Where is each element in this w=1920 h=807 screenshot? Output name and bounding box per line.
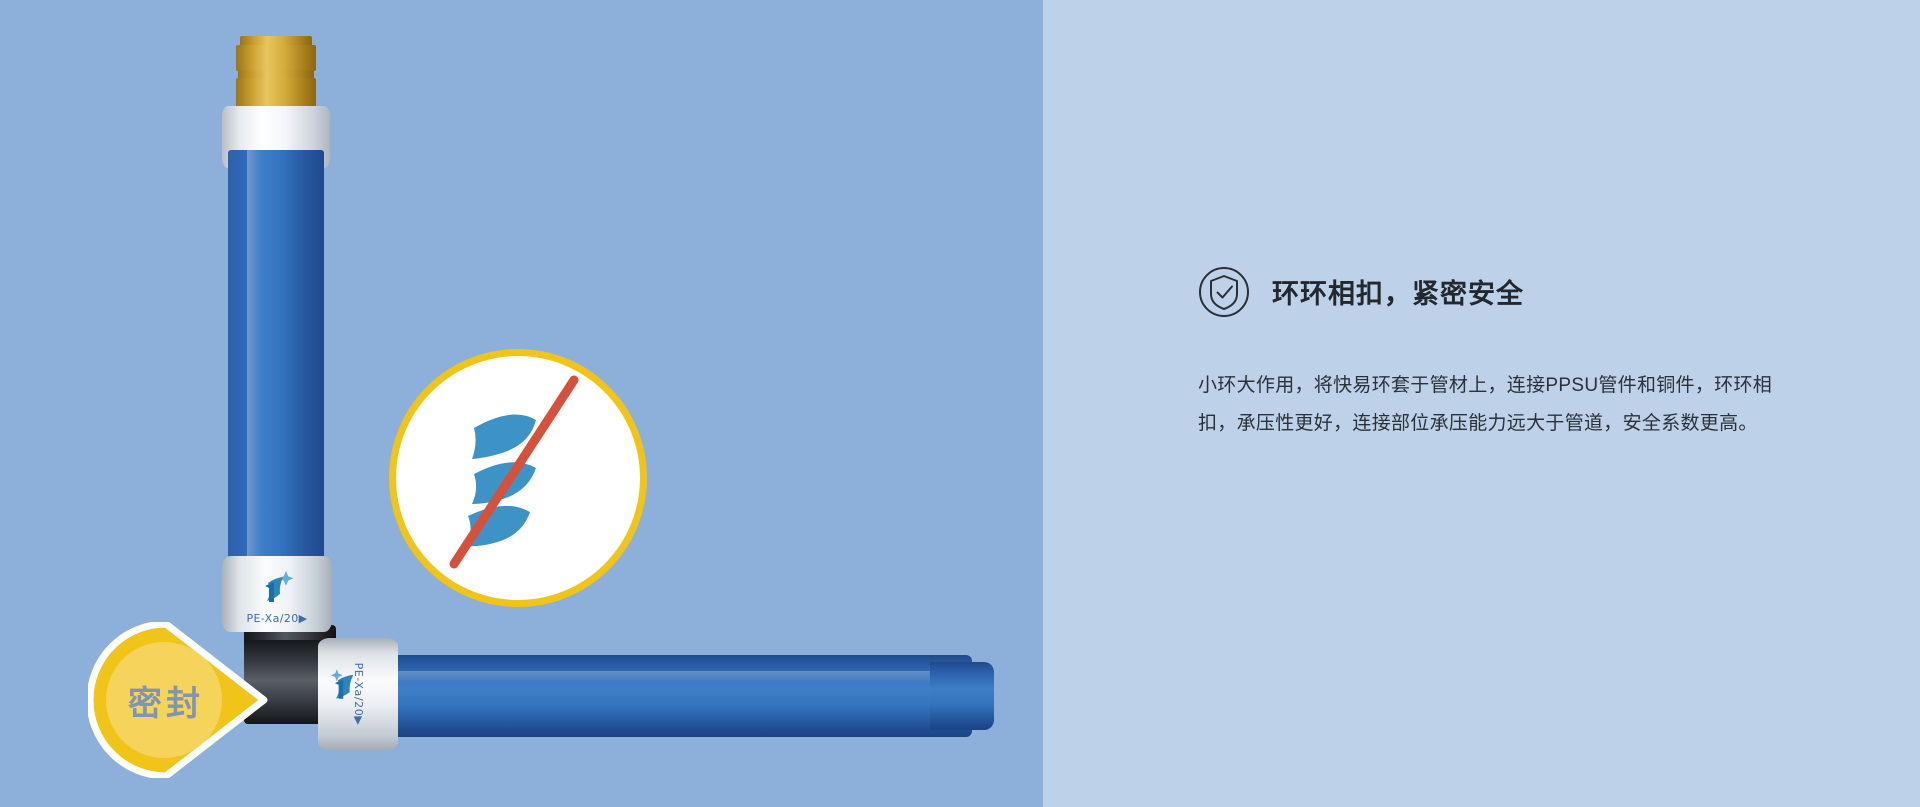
- feature-body-text: 小环大作用，将快易环套于管材上，连接PPSU管件和铜件，环环相扣，承压性更好，连…: [1198, 367, 1788, 443]
- red-slash: [454, 380, 574, 564]
- pexa-marking-horizontal: PE-Xa/20▶: [352, 663, 365, 726]
- yijie-brand-logo-icon: [256, 566, 300, 606]
- shield-check-icon: [1198, 266, 1250, 318]
- vertical-pipe: [228, 150, 324, 570]
- feature-slide: PE-Xa/20▶ PE-Xa/20▶: [0, 0, 1920, 807]
- description-panel: 环环相扣，紧密安全 小环大作用，将快易环套于管材上，连接PPSU管件和铜件，环环…: [1043, 0, 1920, 807]
- no-leak-magnifier: [389, 349, 647, 607]
- product-image-panel: PE-Xa/20▶ PE-Xa/20▶: [0, 0, 1043, 807]
- horizontal-pipe-collar: PE-Xa/20▶: [318, 638, 398, 750]
- seal-badge-label: 密封: [88, 622, 240, 778]
- feature-copy-block: 环环相扣，紧密安全 小环大作用，将快易环套于管材上，连接PPSU管件和铜件，环环…: [1198, 250, 1798, 462]
- product-illustration: PE-Xa/20▶ PE-Xa/20▶: [0, 0, 1043, 807]
- feature-heading: 环环相扣，紧密安全: [1272, 272, 1524, 311]
- vertical-pipe-collar: PE-Xa/20▶: [222, 556, 332, 632]
- horizontal-pipe: [352, 655, 972, 737]
- brass-ridge: [236, 45, 316, 71]
- horizontal-pipe-end: [930, 662, 994, 730]
- seal-callout-badge: 密封: [88, 622, 274, 778]
- feature-heading-row: 环环相扣，紧密安全: [1198, 250, 1798, 334]
